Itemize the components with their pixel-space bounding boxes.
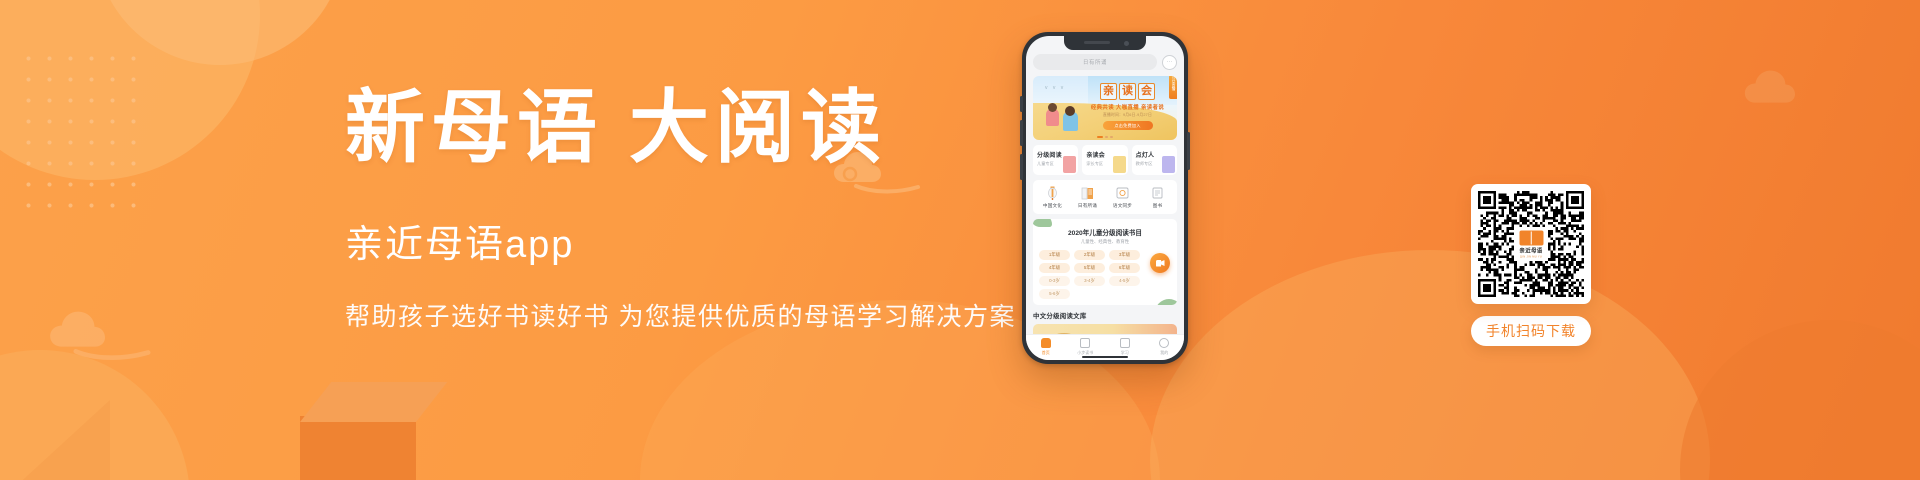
promo-title: 亲 读 会 — [1083, 83, 1172, 100]
quick-link-label: 图书 — [1140, 203, 1175, 209]
quick-link-daily-recite[interactable]: 日有所诵 — [1070, 186, 1105, 209]
home-indicator — [1082, 356, 1128, 358]
app-name: 亲近母语app — [345, 213, 1045, 268]
promo-carousel-dots[interactable] — [1097, 136, 1113, 138]
decor-cloud-icon-3 — [1735, 60, 1855, 124]
quick-links: 中国文化 日有所诵 — [1033, 180, 1177, 214]
booklist-title: 2020年儿童分级阅读书目 — [1039, 227, 1171, 237]
grade-chip[interactable]: 5年级 — [1074, 263, 1105, 273]
promo-date: 直播时间：9月6日-9月27日 — [1083, 113, 1172, 118]
frame-icon — [1116, 186, 1129, 200]
booklist-section: 2020年儿童分级阅读书目 儿童性、经典性、教育性 1年级 2年级 3年级 4年… — [1033, 219, 1177, 305]
grade-chip[interactable]: 1年级 — [1039, 250, 1070, 260]
quick-link-books[interactable]: 图书 — [1140, 186, 1175, 209]
age-chip[interactable]: 5-6岁 — [1039, 289, 1070, 299]
age-chip[interactable]: 3-4岁 — [1074, 276, 1105, 286]
promo-banner: 新母语大阅读 亲近母语app 帮助孩子选好书读好书 为您提供优质的母语学习解决方… — [0, 0, 1920, 480]
home-icon — [1041, 338, 1051, 348]
book-logo-icon — [1519, 230, 1543, 245]
banner-copy: 新母语大阅读 亲近母语app 帮助孩子选好书读好书 为您提供优质的母语学习解决方… — [345, 85, 1045, 333]
category-decor-icon — [1113, 156, 1126, 173]
tagline: 帮助孩子选好书读好书 为您提供优质的母语学习解决方案 — [345, 297, 1045, 333]
decor-cube — [300, 416, 416, 480]
tab-home[interactable]: 首页 — [1026, 338, 1066, 356]
brand-logo: 亲近母语 QIN JIN MU YU — [1515, 228, 1548, 261]
promo-card[interactable]: v v v 亲 读 会 经典共读 大咖直播 亲读者说 直播时间：9月6日-9月2… — [1033, 76, 1177, 140]
promo-cta-button[interactable]: 点击免费加入 — [1103, 121, 1153, 130]
promo-ribbon: 公益直播 — [1169, 76, 1177, 99]
message-icon[interactable]: ··· — [1162, 55, 1177, 70]
user-icon — [1159, 338, 1169, 348]
quick-link-label: 语文同步 — [1105, 203, 1140, 209]
qr-code: 亲近母语 QIN JIN MU YU — [1471, 184, 1591, 304]
clipboard-icon — [1120, 338, 1130, 348]
decor-leaf-icon — [1033, 219, 1052, 227]
page-title: 新母语大阅读 — [345, 85, 1045, 175]
search-input[interactable]: 日有所诵 — [1033, 54, 1157, 70]
phone-volume-down — [1020, 154, 1023, 180]
brand-name-en: QIN JIN MU YU — [1520, 255, 1542, 258]
promo-subtitle: 经典共读 大咖直播 亲读者说 — [1083, 103, 1172, 111]
quick-link-chinese-culture[interactable]: 中国文化 — [1035, 186, 1070, 209]
tab-study[interactable]: 学习 — [1105, 338, 1145, 356]
tab-profile[interactable]: 我的 — [1145, 338, 1185, 356]
qr-download-block: 亲近母语 QIN JIN MU YU 手机扫码下载 — [1471, 184, 1591, 346]
library-title: 中文分级阅读文库 — [1033, 311, 1177, 320]
phone-volume-up — [1020, 120, 1023, 146]
phone-mockup: 日有所诵 ··· v v v 亲 读 会 经典共读 — [1022, 32, 1188, 364]
decor-circle-phone-glow — [1150, 250, 1710, 480]
grade-chip[interactable]: 3年级 — [1109, 250, 1140, 260]
book-icon — [1151, 186, 1164, 200]
grade-chip[interactable]: 2年级 — [1074, 250, 1105, 260]
phone-power-button — [1187, 132, 1190, 170]
headline-part-2: 大阅读 — [629, 85, 887, 173]
tab-label: 首页 — [1026, 350, 1066, 356]
decor-circle-bottom-right — [1680, 320, 1920, 480]
category-decor-icon — [1162, 156, 1175, 173]
tab-reading[interactable]: 小步读书 — [1066, 338, 1106, 356]
booklist-subtitle: 儿童性、经典性、教育性 — [1039, 239, 1171, 245]
age-chip[interactable]: 4-5岁 — [1109, 276, 1140, 286]
lantern-icon — [1046, 186, 1059, 200]
phone-notch — [1064, 36, 1146, 50]
headline-part-1: 新母语 — [345, 85, 603, 173]
download-button[interactable]: 手机扫码下载 — [1471, 316, 1591, 346]
decor-cloud-icon-2 — [40, 300, 170, 370]
decor-leaf-icon-2 — [1155, 299, 1177, 305]
category-card-teacher[interactable]: 点灯人 教师专区 — [1132, 145, 1177, 175]
category-decor-icon — [1063, 156, 1076, 173]
promo-title-char: 会 — [1138, 83, 1155, 100]
promo-title-char: 亲 — [1100, 83, 1117, 100]
grade-chip[interactable]: 6年级 — [1109, 263, 1140, 273]
promo-birds-icon: v v v — [1045, 85, 1065, 91]
quick-link-label: 日有所诵 — [1070, 203, 1105, 209]
book-open-icon — [1081, 186, 1094, 200]
app-search-row: 日有所诵 ··· — [1033, 54, 1177, 70]
grade-chip[interactable]: 4年级 — [1039, 263, 1070, 273]
age-chip[interactable]: 0-3岁 — [1039, 276, 1070, 286]
category-card-graded-reading[interactable]: 分级阅读 儿童专区 — [1033, 145, 1078, 175]
promo-title-char: 读 — [1119, 83, 1136, 100]
phone-mute-switch — [1020, 96, 1023, 112]
category-card-parent-club[interactable]: 亲读会 家长专区 — [1082, 145, 1127, 175]
phone-screen: 日有所诵 ··· v v v 亲 读 会 经典共读 — [1026, 36, 1184, 360]
brand-name: 亲近母语 — [1519, 246, 1542, 254]
promo-child-2 — [1063, 112, 1078, 131]
category-cards: 分级阅读 儿童专区 亲读会 家长专区 点灯人 教师专区 — [1033, 145, 1177, 175]
book-icon — [1080, 338, 1090, 348]
quick-link-chinese-sync[interactable]: 语文同步 — [1105, 186, 1140, 209]
tab-label: 我的 — [1145, 350, 1185, 356]
decor-triangle — [0, 400, 110, 480]
quick-link-label: 中国文化 — [1035, 203, 1070, 209]
play-video-icon[interactable] — [1150, 253, 1170, 273]
decor-dot-grid — [18, 48, 150, 208]
promo-child-1 — [1046, 109, 1059, 126]
